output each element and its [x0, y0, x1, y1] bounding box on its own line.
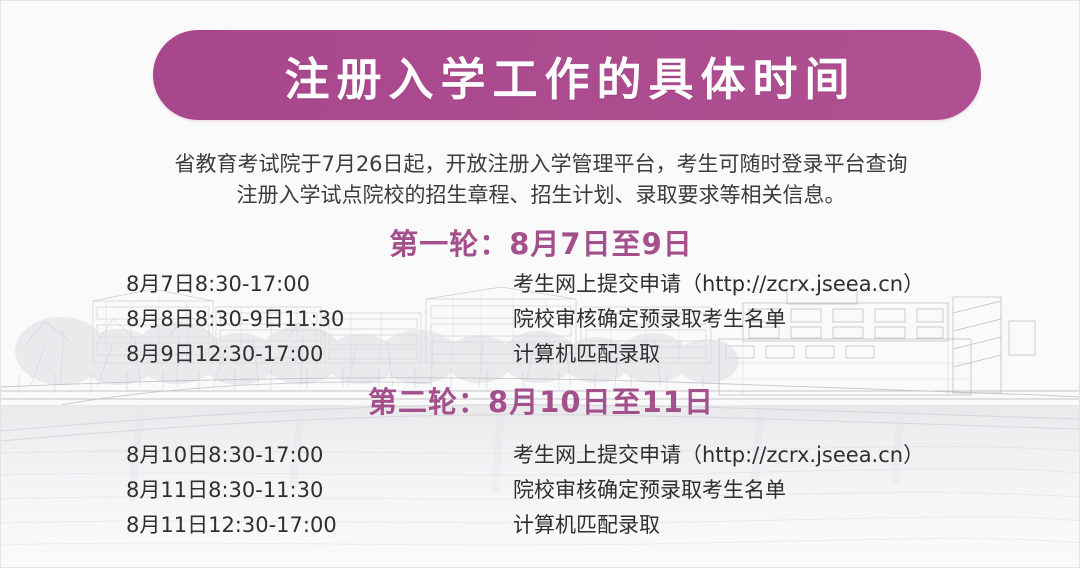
intro-line-1: 省教育考试院于7月26日起，开放注册入学管理平台，考生可随时登录平台查询	[1, 149, 1080, 180]
round-2-heading: 第二轮：8月10日至11日	[1, 379, 1080, 421]
round-1-schedule: 8月7日8:30-17:00 考生网上提交申请（http://zcrx.jsee…	[126, 268, 1006, 373]
schedule-row: 8月11日12:30-17:00 计算机匹配录取	[126, 509, 1006, 544]
schedule-time: 8月8日8:30-9日11:30	[126, 303, 513, 333]
round-1-heading: 第一轮：8月7日至9日	[1, 221, 1080, 263]
schedule-task: 考生网上提交申请（http://zcrx.jseea.cn）	[513, 439, 924, 469]
title-banner: 注册入学工作的具体时间	[153, 30, 981, 120]
schedule-time: 8月11日8:30-11:30	[126, 474, 513, 504]
poster-canvas: 注册入学工作的具体时间 省教育考试院于7月26日起，开放注册入学管理平台，考生可…	[0, 0, 1080, 568]
round-2-schedule: 8月10日8:30-17:00 考生网上提交申请（http://zcrx.jse…	[126, 439, 1006, 544]
schedule-task: 院校审核确定预录取考生名单	[513, 303, 786, 333]
schedule-row: 8月7日8:30-17:00 考生网上提交申请（http://zcrx.jsee…	[126, 268, 1006, 303]
schedule-task: 计算机匹配录取	[513, 509, 660, 539]
schedule-time: 8月10日8:30-17:00	[126, 439, 513, 469]
schedule-task: 院校审核确定预录取考生名单	[513, 474, 786, 504]
schedule-row: 8月11日8:30-11:30 院校审核确定预录取考生名单	[126, 474, 1006, 509]
page-title: 注册入学工作的具体时间	[277, 43, 856, 108]
schedule-time: 8月7日8:30-17:00	[126, 268, 513, 298]
schedule-time: 8月9日12:30-17:00	[126, 338, 513, 368]
schedule-row: 8月9日12:30-17:00 计算机匹配录取	[126, 338, 1006, 373]
schedule-task: 计算机匹配录取	[513, 338, 660, 368]
schedule-row: 8月8日8:30-9日11:30 院校审核确定预录取考生名单	[126, 303, 1006, 338]
intro-line-2: 注册入学试点院校的招生章程、招生计划、录取要求等相关信息。	[1, 180, 1080, 211]
schedule-task: 考生网上提交申请（http://zcrx.jseea.cn）	[513, 268, 924, 298]
schedule-row: 8月10日8:30-17:00 考生网上提交申请（http://zcrx.jse…	[126, 439, 1006, 474]
schedule-time: 8月11日12:30-17:00	[126, 509, 513, 539]
intro-paragraph: 省教育考试院于7月26日起，开放注册入学管理平台，考生可随时登录平台查询 注册入…	[1, 149, 1080, 211]
